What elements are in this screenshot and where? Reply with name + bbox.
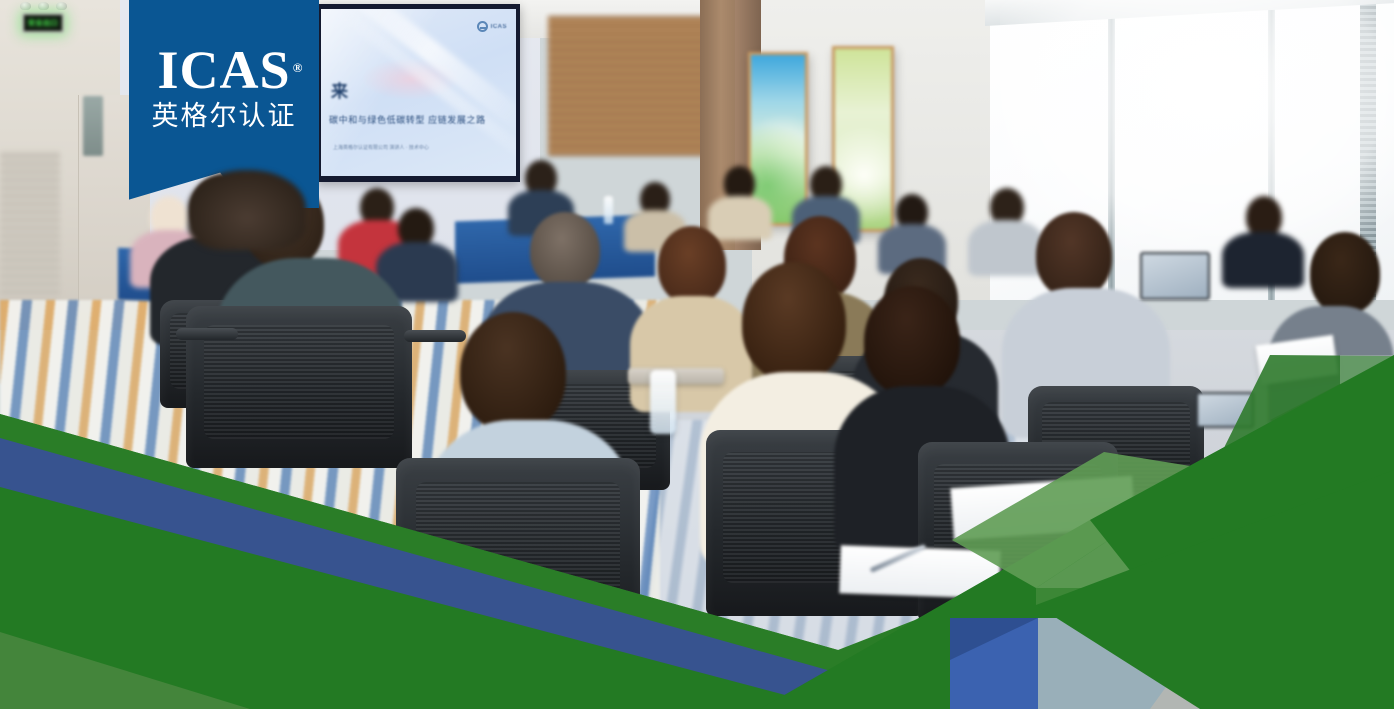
tablet-device [1140, 252, 1210, 300]
foreground-head-occluder [188, 170, 306, 250]
projection-screen-surface: ICAS 来 碳中和与绿色低碳转型 应链发展之路 上海英格尔认证有限公司 演讲人… [321, 9, 516, 176]
handout-paper [839, 545, 1001, 599]
projection-screen: ICAS 来 碳中和与绿色低碳转型 应链发展之路 上海英格尔认证有限公司 演讲人… [316, 4, 520, 182]
slide-title: 来 [331, 77, 349, 102]
icas-wordmark: ICAS ® [157, 43, 290, 97]
slide-footnote: 上海英格尔认证有限公司 演讲人 · 技术中心 [333, 145, 429, 152]
chair-writing-tablet [628, 368, 724, 384]
chair [396, 458, 640, 658]
slide-subtitle: 碳中和与绿色低碳转型 应链发展之路 [329, 113, 486, 126]
water-bottle [604, 196, 613, 224]
ceiling-spotlight [38, 2, 49, 10]
window-blinds-left [0, 150, 60, 300]
icas-chinese-name: 英格尔认证 [152, 102, 297, 132]
chair-armrest [404, 330, 466, 342]
exit-sign-text: 安全出口 [28, 19, 58, 27]
water-bottle [650, 370, 676, 434]
slide-logo-ring-icon [477, 21, 488, 32]
icas-wordmark-text: ICAS [157, 40, 290, 100]
banner-canvas: 安全出口 ICAS 来 碳中和与绿色低碳转型 应链发展之路 上海英格尔认证有限公… [0, 0, 1394, 709]
emergency-exit-sign: 安全出口 [22, 13, 64, 33]
slide-logo: ICAS [477, 21, 507, 32]
ceiling-spotlight [20, 2, 31, 10]
registered-trademark-icon: ® [293, 41, 304, 95]
window-blinds-center [548, 16, 708, 156]
chair-armrest [176, 328, 238, 340]
tablet-device [1196, 392, 1254, 428]
slide-logo-text: ICAS [491, 24, 507, 30]
ceiling-spotlight [56, 2, 67, 10]
door-handle [83, 96, 103, 156]
